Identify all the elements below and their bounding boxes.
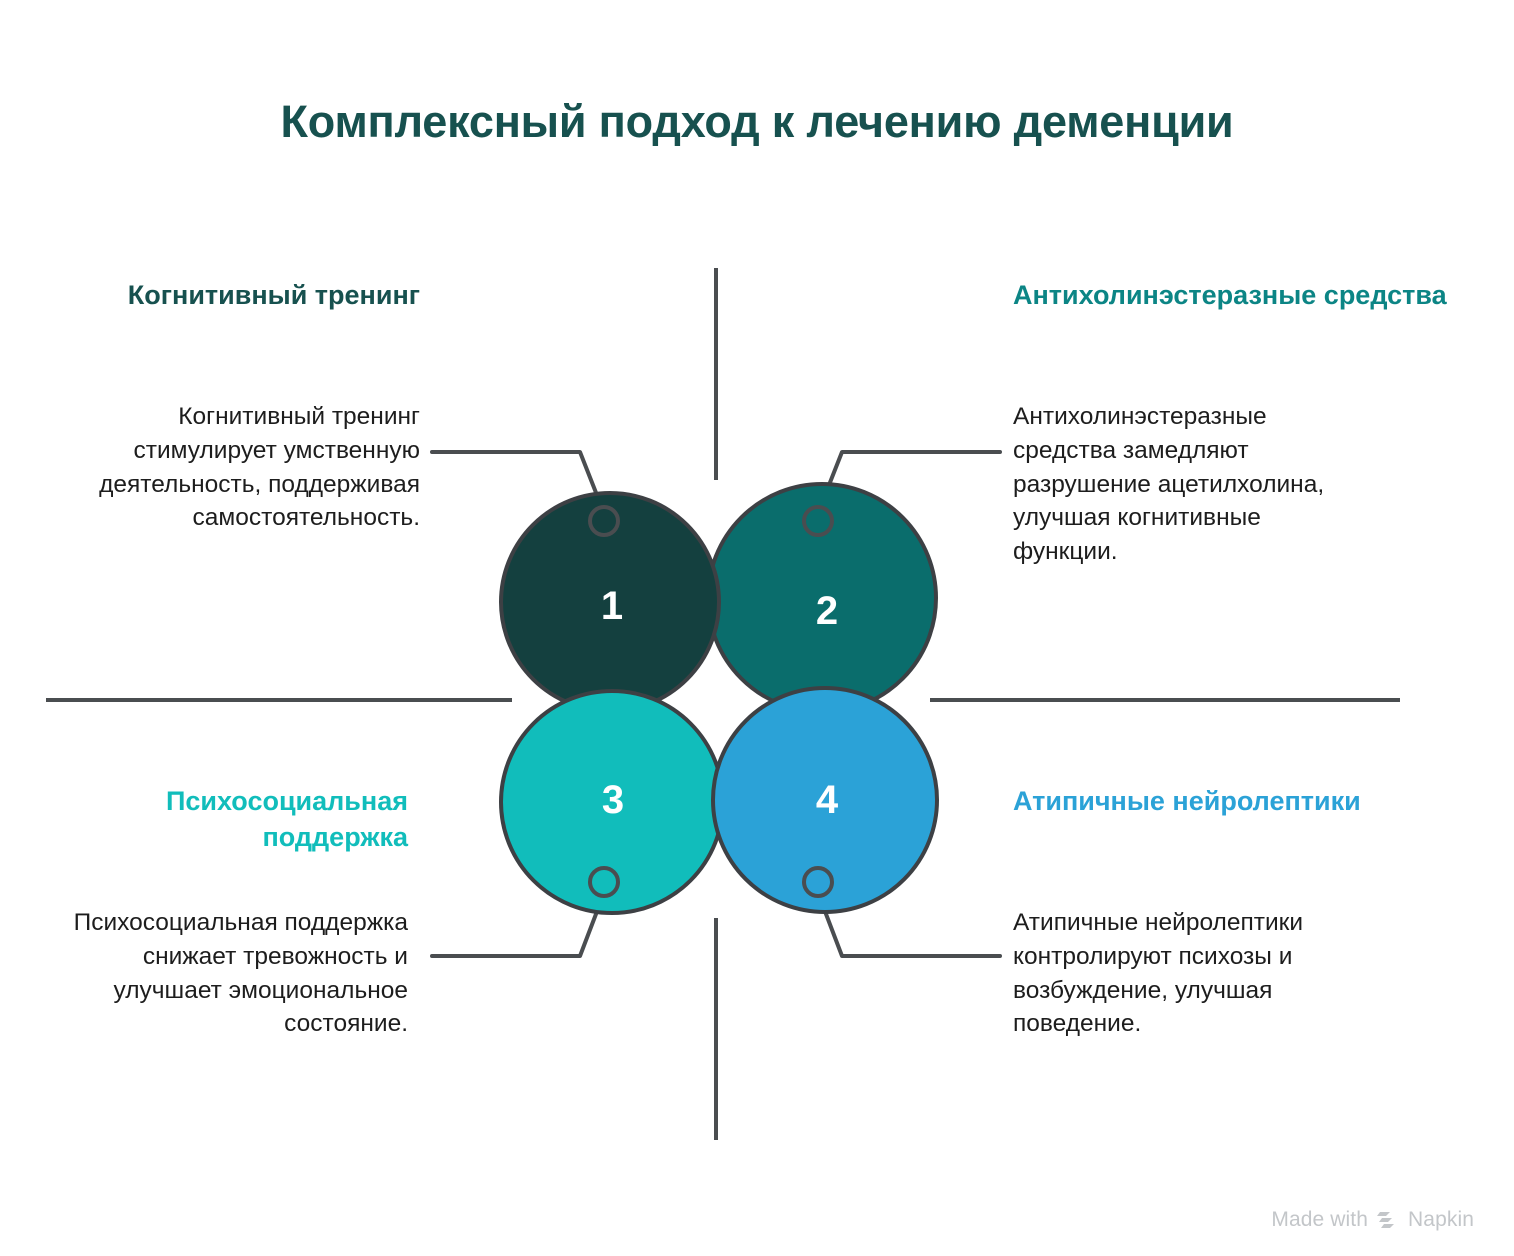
venn-diagram: 1 2 3 4 bbox=[0, 0, 1514, 1256]
watermark-prefix: Made with bbox=[1271, 1208, 1368, 1232]
node-number-1: 1 bbox=[601, 584, 623, 628]
napkin-watermark: Made with Napkin bbox=[1271, 1208, 1474, 1232]
node-number-3: 3 bbox=[602, 778, 624, 822]
infographic-canvas: Комплексный подход к лечению деменции Ко… bbox=[0, 0, 1514, 1256]
watermark-brand: Napkin bbox=[1408, 1208, 1474, 1232]
node-number-4: 4 bbox=[816, 778, 839, 822]
node-number-2: 2 bbox=[816, 589, 838, 633]
napkin-logo-icon bbox=[1377, 1210, 1399, 1230]
